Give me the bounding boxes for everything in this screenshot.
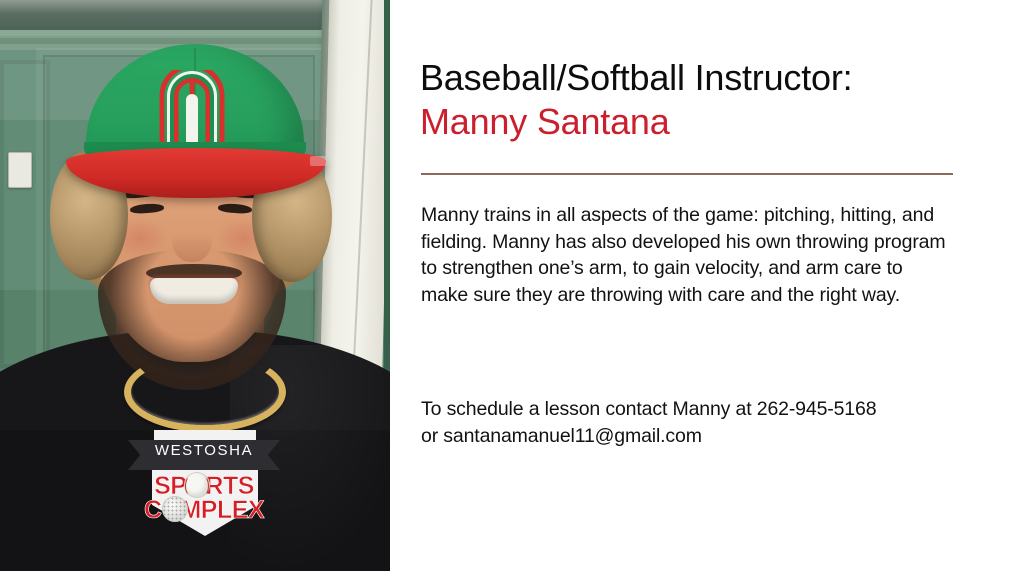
- title-divider: [421, 173, 953, 175]
- contact-phone-line: To schedule a lesson contact Manny at 26…: [421, 396, 961, 423]
- mexico-m-logo-icon: [156, 70, 228, 146]
- title-instructor-name: Manny Santana: [420, 100, 965, 144]
- baseball-icon: [184, 472, 210, 498]
- title-role: Baseball/Softball Instructor:: [420, 56, 965, 100]
- slide-root: WESTOSHA SPORTS COMPLEX Baseball/Softbal…: [0, 0, 1014, 571]
- content-panel: Baseball/Softball Instructor: Manny Sant…: [390, 0, 1014, 571]
- logo-complex-text: COMPLEX: [128, 496, 280, 525]
- contact-info: To schedule a lesson contact Manny at 26…: [421, 396, 961, 449]
- page-title: Baseball/Softball Instructor: Manny Sant…: [420, 56, 965, 144]
- bio-paragraph: Manny trains in all aspects of the game:…: [421, 202, 951, 308]
- shirt-logo: WESTOSHA SPORTS COMPLEX: [128, 428, 280, 538]
- instructor-photo: WESTOSHA SPORTS COMPLEX: [0, 0, 390, 571]
- gold-chain-necklace: [124, 352, 286, 432]
- mouth-smile: [150, 278, 238, 304]
- contact-email-line: or santanamanuel11@gmail.com: [421, 423, 961, 450]
- cap-brim-mark: [310, 156, 326, 166]
- golf-ball-icon: [162, 496, 188, 522]
- nose: [172, 214, 212, 262]
- logo-westosha-text: WESTOSHA: [128, 442, 280, 459]
- person-figure: WESTOSHA SPORTS COMPLEX: [0, 0, 390, 571]
